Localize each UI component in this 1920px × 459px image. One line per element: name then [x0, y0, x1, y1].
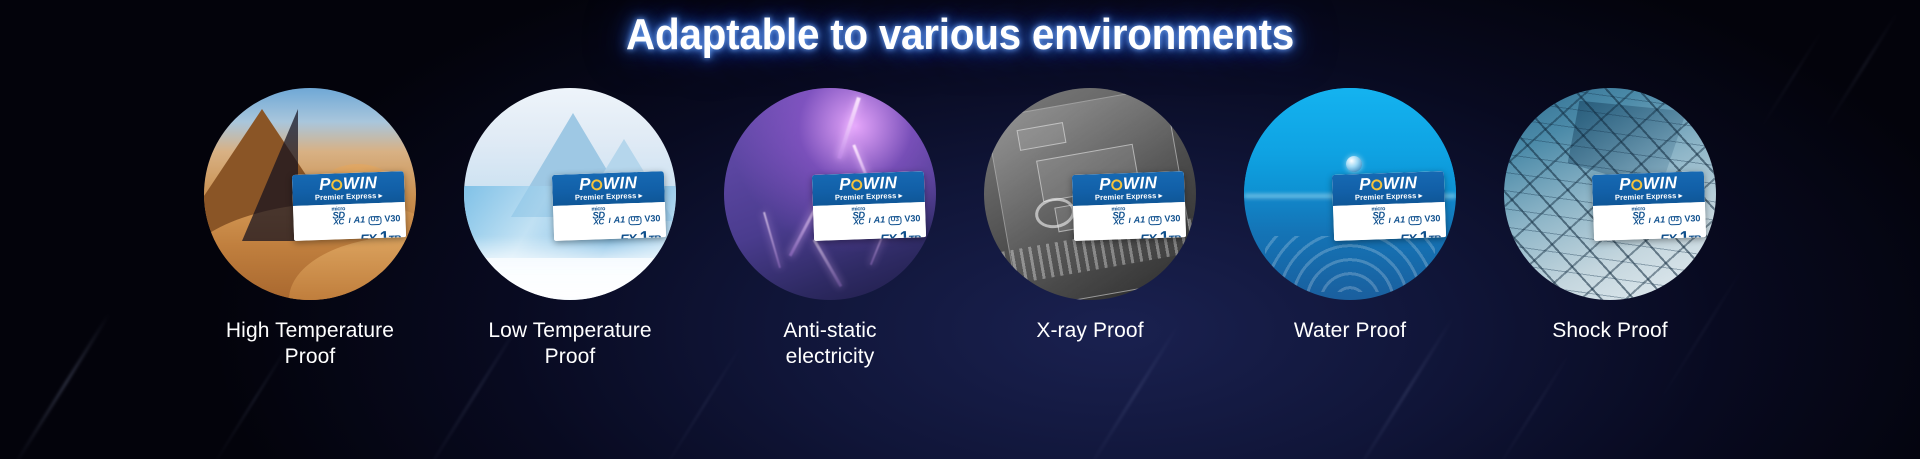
- water-ripple: [1265, 236, 1435, 291]
- spec-app-class: A1: [614, 215, 626, 225]
- spec-bus-speed: I: [1388, 217, 1390, 226]
- brand-text-right: WIN: [1123, 173, 1158, 193]
- brand-ring-icon: [1111, 179, 1122, 190]
- feature-item-x-ray-proof: PWIN Premier Express ▸ micro SD XC I A1: [972, 88, 1208, 370]
- spec-uhs-class: U3: [368, 215, 382, 224]
- caption-line-1: Low Temperature: [488, 318, 651, 344]
- brand-text-left: P: [839, 174, 851, 193]
- logo-xc-text: XC: [1633, 219, 1644, 226]
- brand-text-right: WIN: [343, 173, 378, 193]
- promo-banner: Adaptable to various environments PWIN P…: [0, 0, 1920, 459]
- card-specs: micro SD XC I A1 U3 V30: [818, 204, 921, 227]
- spec-bus-speed: I: [1648, 217, 1650, 226]
- feature-item-low-temperature-proof: PWIN Premier Express ▸ micro SD XC I A1: [452, 88, 688, 370]
- spec-video-class: V30: [644, 214, 660, 225]
- caption-line-2: electricity: [783, 344, 876, 370]
- feature-caption-x-ray-proof: X-ray Proof: [1036, 318, 1143, 344]
- brand-ring-icon: [851, 179, 862, 190]
- brand-ring-icon: [1631, 179, 1642, 190]
- microsdxc-logo-icon: micro SD XC: [1111, 206, 1125, 226]
- spec-video-class: V30: [384, 214, 400, 225]
- feature-image-water-proof: PWIN Premier Express ▸ micro SD XC I A1: [1244, 88, 1456, 300]
- microsdxc-logo-icon: micro SD XC: [851, 206, 865, 226]
- spec-video-class: V30: [1684, 214, 1700, 225]
- feature-caption-water-proof: Water Proof: [1294, 318, 1406, 344]
- feature-image-high-temperature-proof: PWIN Premier Express ▸ micro SD XC I A1: [204, 88, 416, 300]
- lightning-bolt: [812, 239, 842, 287]
- feature-image-x-ray-proof: PWIN Premier Express ▸ micro SD XC I A1: [984, 88, 1196, 300]
- logo-xc-text: XC: [593, 219, 604, 226]
- card-specs: micro SD XC I A1 U3 V30: [1598, 204, 1701, 227]
- brand-ring-icon: [1371, 179, 1382, 190]
- spec-app-class: A1: [1134, 215, 1146, 225]
- card-body: micro SD XC I A1 U3 V30 EX 1TB: [813, 202, 926, 241]
- spec-app-class: A1: [354, 215, 366, 225]
- spec-bus-speed: I: [348, 217, 350, 226]
- card-header: PWIN Premier Express ▸: [1332, 171, 1445, 206]
- feature-image-shock-proof: PWIN Premier Express ▸ micro SD XC I A1: [1504, 88, 1716, 300]
- fog-band: [464, 236, 676, 300]
- memory-card: PWIN Premier Express ▸ micro SD XC I A1: [812, 171, 926, 241]
- caption-line-1: Water Proof: [1294, 318, 1406, 344]
- water-droplet-icon: [1346, 156, 1362, 172]
- brand-text-left: P: [579, 174, 591, 193]
- caption-line-1: X-ray Proof: [1036, 318, 1143, 344]
- brand-text-right: WIN: [1383, 173, 1418, 193]
- brand-text-right: WIN: [1643, 173, 1678, 193]
- spec-bus-speed: I: [1128, 217, 1130, 226]
- brand-text-left: P: [1619, 174, 1631, 193]
- microsdxc-logo-icon: micro SD XC: [331, 206, 345, 226]
- caption-line-2: Proof: [226, 344, 394, 370]
- microsdxc-logo-icon: micro SD XC: [591, 206, 605, 226]
- feature-item-high-temperature-proof: PWIN Premier Express ▸ micro SD XC I A1: [192, 88, 428, 370]
- logo-xc-text: XC: [1113, 219, 1124, 226]
- memory-card: PWIN Premier Express ▸ micro SD XC I A1: [292, 171, 406, 241]
- card-body: micro SD XC I A1 U3 V30 EX 1TB: [1333, 202, 1446, 241]
- feature-list: PWIN Premier Express ▸ micro SD XC I A1: [0, 88, 1920, 370]
- spec-uhs-class: U3: [1668, 215, 1682, 224]
- card-specs: micro SD XC I A1 U3 V30: [558, 204, 661, 227]
- feature-item-anti-static-electricity: PWIN Premier Express ▸ micro SD XC I A1: [712, 88, 948, 370]
- card-body: micro SD XC I A1 U3 V30 EX 1TB: [293, 202, 406, 241]
- feature-caption-low-temperature-proof: Low Temperature Proof: [488, 318, 651, 370]
- brand-ring-icon: [591, 179, 602, 190]
- spec-uhs-class: U3: [628, 215, 642, 224]
- caption-line-2: Proof: [488, 344, 651, 370]
- spec-app-class: A1: [874, 215, 886, 225]
- card-body: micro SD XC I A1 U3 V30 EX 1TB: [1073, 202, 1186, 241]
- logo-xc-text: XC: [853, 219, 864, 226]
- brand-text-right: WIN: [863, 173, 898, 193]
- feature-image-low-temperature-proof: PWIN Premier Express ▸ micro SD XC I A1: [464, 88, 676, 300]
- feature-item-shock-proof: PWIN Premier Express ▸ micro SD XC I A1: [1492, 88, 1728, 370]
- spec-video-class: V30: [1424, 214, 1440, 225]
- card-body: micro SD XC I A1 U3 V30 EX 1TB: [553, 202, 666, 241]
- feature-caption-anti-static-electricity: Anti-static electricity: [783, 318, 876, 370]
- card-body: micro SD XC I A1 U3 V30 EX 1TB: [1593, 202, 1706, 241]
- card-header: PWIN Premier Express ▸: [812, 171, 925, 206]
- brand-ring-icon: [331, 179, 342, 190]
- memory-card: PWIN Premier Express ▸ micro SD XC I A1: [1072, 171, 1186, 241]
- brand-text-right: WIN: [603, 173, 638, 193]
- card-header: PWIN Premier Express ▸: [1592, 171, 1705, 206]
- microsdxc-logo-icon: micro SD XC: [1631, 206, 1645, 226]
- card-header: PWIN Premier Express ▸: [1072, 171, 1185, 206]
- spec-video-class: V30: [1164, 214, 1180, 225]
- caption-line-1: Shock Proof: [1552, 318, 1668, 344]
- spec-bus-speed: I: [868, 217, 870, 226]
- caption-line-1: Anti-static: [783, 318, 876, 344]
- card-specs: micro SD XC I A1 U3 V30: [298, 204, 401, 227]
- spec-uhs-class: U3: [1408, 215, 1422, 224]
- brand-text-left: P: [1359, 174, 1371, 193]
- caption-line-1: High Temperature: [226, 318, 394, 344]
- memory-card: PWIN Premier Express ▸ micro SD XC I A1: [1332, 171, 1446, 241]
- card-header: PWIN Premier Express ▸: [292, 171, 405, 206]
- logo-xc-text: XC: [333, 219, 344, 226]
- memory-card: PWIN Premier Express ▸ micro SD XC I A1: [1592, 171, 1706, 241]
- spec-video-class: V30: [904, 214, 920, 225]
- card-specs: micro SD XC I A1 U3 V30: [1078, 204, 1181, 227]
- card-specs: micro SD XC I A1 U3 V30: [1338, 204, 1441, 227]
- memory-card: PWIN Premier Express ▸ micro SD XC I A1: [552, 171, 666, 241]
- feature-caption-shock-proof: Shock Proof: [1552, 318, 1668, 344]
- spec-bus-speed: I: [608, 217, 610, 226]
- feature-caption-high-temperature-proof: High Temperature Proof: [226, 318, 394, 370]
- spec-app-class: A1: [1654, 215, 1666, 225]
- brand-text-left: P: [319, 174, 331, 193]
- spec-uhs-class: U3: [1148, 215, 1162, 224]
- microsdxc-logo-icon: micro SD XC: [1371, 206, 1385, 226]
- feature-image-anti-static-electricity: PWIN Premier Express ▸ micro SD XC I A1: [724, 88, 936, 300]
- spec-uhs-class: U3: [888, 215, 902, 224]
- spec-app-class: A1: [1394, 215, 1406, 225]
- logo-xc-text: XC: [1373, 219, 1384, 226]
- brand-text-left: P: [1099, 174, 1111, 193]
- lightning-bolt: [763, 212, 781, 268]
- feature-item-water-proof: PWIN Premier Express ▸ micro SD XC I A1: [1232, 88, 1468, 370]
- banner-title: Adaptable to various environments: [77, 10, 1843, 60]
- card-header: PWIN Premier Express ▸: [552, 171, 665, 206]
